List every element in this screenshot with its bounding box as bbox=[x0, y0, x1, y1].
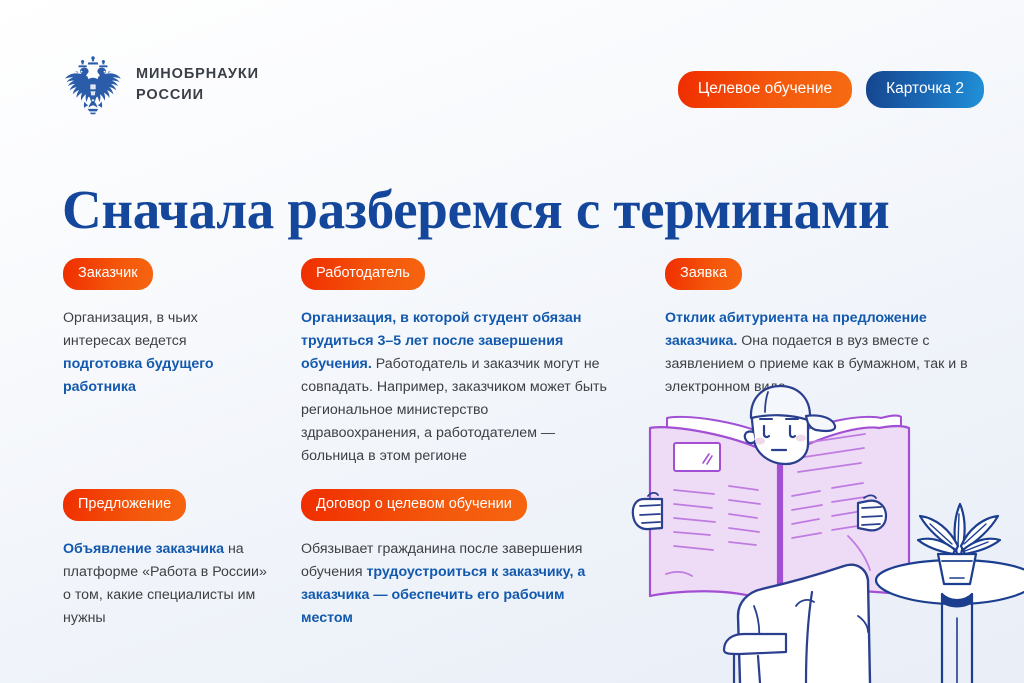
term-text-highlight: Объявление заказчика bbox=[63, 541, 224, 557]
table-collar bbox=[942, 594, 972, 607]
term-text-dogovor: Обязывает гражданина после завершения об… bbox=[301, 538, 611, 630]
plant-leaf-right-lower bbox=[963, 539, 1000, 554]
legs bbox=[738, 565, 870, 683]
term-text-plain: Организация, в чьих интересах ведется bbox=[63, 310, 198, 349]
right-hand bbox=[858, 501, 886, 531]
plant-leaf-veins bbox=[930, 514, 988, 551]
left-hand-fingers bbox=[640, 505, 660, 523]
table-pedestal bbox=[942, 594, 972, 683]
stool-leg-right bbox=[758, 656, 760, 683]
plant-pot bbox=[938, 554, 976, 584]
newspaper-page-right bbox=[782, 426, 909, 606]
trouser-crease-left bbox=[754, 606, 759, 640]
stool-seat bbox=[724, 634, 786, 654]
plant-leaf-left-lower bbox=[918, 539, 955, 554]
ear bbox=[745, 432, 755, 444]
left-thumb bbox=[648, 493, 658, 496]
term-tag-dogovor: Договор о целевом обучении bbox=[301, 489, 527, 521]
newspaper-photo-detail bbox=[703, 454, 712, 464]
trouser-crease-right bbox=[858, 616, 868, 632]
knee-fold bbox=[796, 600, 814, 606]
page-title: Сначала разберемся с терминами bbox=[62, 178, 889, 241]
term-text-rabotodatel: Организация, в которой студент обязан тр… bbox=[301, 307, 611, 468]
term-text-highlight: подготовка будущего работника bbox=[63, 356, 214, 395]
term-text-zakazchik: Организация, в чьих интересах ведется по… bbox=[63, 307, 268, 399]
left-eye bbox=[764, 426, 769, 437]
newspaper-text-lines-left bbox=[674, 486, 760, 550]
right-hand-fingers bbox=[862, 507, 882, 525]
right-thumb bbox=[864, 495, 876, 498]
left-cheek bbox=[755, 438, 765, 445]
term-block-rabotodatel: Работодатель Организация, в которой студ… bbox=[301, 258, 611, 468]
term-text-zayavka: Отклик абитуриента на предложение заказч… bbox=[665, 307, 985, 399]
leg-separation bbox=[806, 592, 812, 683]
right-eye bbox=[790, 426, 795, 437]
term-block-dogovor: Договор о целевом обучении Обязывает гра… bbox=[301, 489, 611, 630]
term-block-zayavka: Заявка Отклик абитуриента на предложение… bbox=[665, 258, 985, 399]
russian-coat-of-arms-icon bbox=[64, 54, 122, 116]
newspaper-back-right bbox=[782, 416, 901, 593]
term-tag-predlozhenie: Предложение bbox=[63, 489, 186, 521]
slide-root: МИНОБРНАУКИ РОССИИ Целевое обучение Карт… bbox=[0, 0, 1024, 683]
face bbox=[752, 396, 808, 464]
term-tag-zayavka: Заявка bbox=[665, 258, 742, 290]
plant-leaf-right-upper bbox=[961, 516, 998, 550]
table-top-edge bbox=[876, 580, 1024, 604]
newspaper-corner-line-left bbox=[666, 572, 692, 576]
right-cheek bbox=[796, 435, 806, 442]
term-block-zakazchik: Заказчик Организация, в чьих интересах в… bbox=[63, 258, 268, 399]
topic-badge[interactable]: Целевое обучение bbox=[678, 71, 852, 108]
term-block-predlozhenie: Предложение Объявление заказчика на плат… bbox=[63, 489, 268, 630]
ministry-name-line2: РОССИИ bbox=[136, 85, 259, 106]
plant-leaf-center bbox=[955, 504, 965, 554]
newspaper-page-left bbox=[650, 427, 778, 606]
ministry-name: МИНОБРНАУКИ РОССИИ bbox=[136, 64, 259, 105]
newspaper-text-lines-right bbox=[792, 434, 865, 538]
table-top bbox=[876, 560, 1024, 600]
card-number-badge[interactable]: Карточка 2 bbox=[866, 71, 984, 108]
term-tag-zakazchik: Заказчик bbox=[63, 258, 153, 290]
top-badge-group: Целевое обучение Карточка 2 bbox=[678, 71, 984, 108]
cap-brim bbox=[806, 415, 835, 430]
newspaper-photo-box bbox=[674, 443, 720, 471]
term-tag-rabotodatel: Работодатель bbox=[301, 258, 425, 290]
man-reading-newspaper-illustration bbox=[620, 378, 1024, 683]
newspaper-corner-line-right bbox=[848, 536, 870, 570]
newspaper-back-left bbox=[667, 417, 778, 593]
left-hand bbox=[633, 499, 662, 529]
plant-leaf-left-upper bbox=[920, 516, 958, 550]
term-text-predlozhenie: Объявление заказчика на платформе «Работ… bbox=[63, 538, 268, 630]
ministry-name-line1: МИНОБРНАУКИ bbox=[136, 64, 259, 85]
ministry-logo: МИНОБРНАУКИ РОССИИ bbox=[64, 54, 259, 116]
